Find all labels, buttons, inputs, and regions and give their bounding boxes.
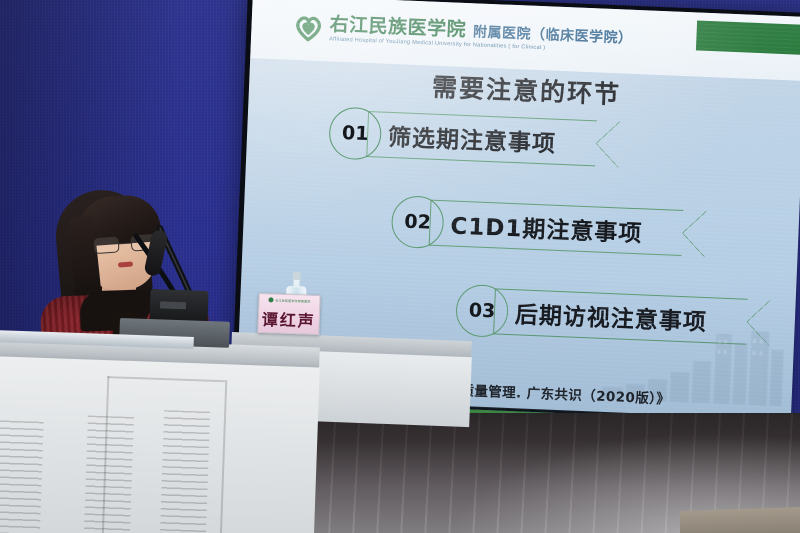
podium-vent xyxy=(84,415,134,533)
podium-panel-seam xyxy=(219,380,226,533)
placard-logo-icon xyxy=(268,297,273,302)
placard-org-mark: 右江民族医学院附属医院 xyxy=(268,297,310,303)
podium-front-panel xyxy=(0,356,320,533)
header-green-accent xyxy=(696,20,800,54)
placard-org-text: 右江民族医学院附属医院 xyxy=(275,298,310,303)
podium-vent xyxy=(160,410,210,533)
name-placard: 右江民族医学院附属医院 谭红声 xyxy=(257,293,320,335)
podium-vent xyxy=(0,420,44,533)
glasses-lens-left xyxy=(94,236,120,254)
step-label-banner: C1D1期注意事项 xyxy=(429,200,684,256)
hospital-logo-block: 右江民族医学院 附属医院（临床医学院） Affiliated Hospital … xyxy=(293,13,633,57)
hospital-logo-texts: 右江民族医学院 附属医院（临床医学院） Affiliated Hospital … xyxy=(329,16,633,56)
step-label-banner: 筛选期注意事项 xyxy=(366,111,597,166)
heart-logo-icon xyxy=(293,13,324,44)
presentation-photo-scene: 右江民族医学院 附属医院（临床医学院） Affiliated Hospital … xyxy=(0,0,800,533)
placard-speaker-name: 谭红声 xyxy=(261,306,316,332)
step-item-02: 02 C1D1期注意事项 xyxy=(243,188,800,265)
podium-panel-seam xyxy=(107,376,225,382)
floor-edge-trim xyxy=(680,507,800,533)
